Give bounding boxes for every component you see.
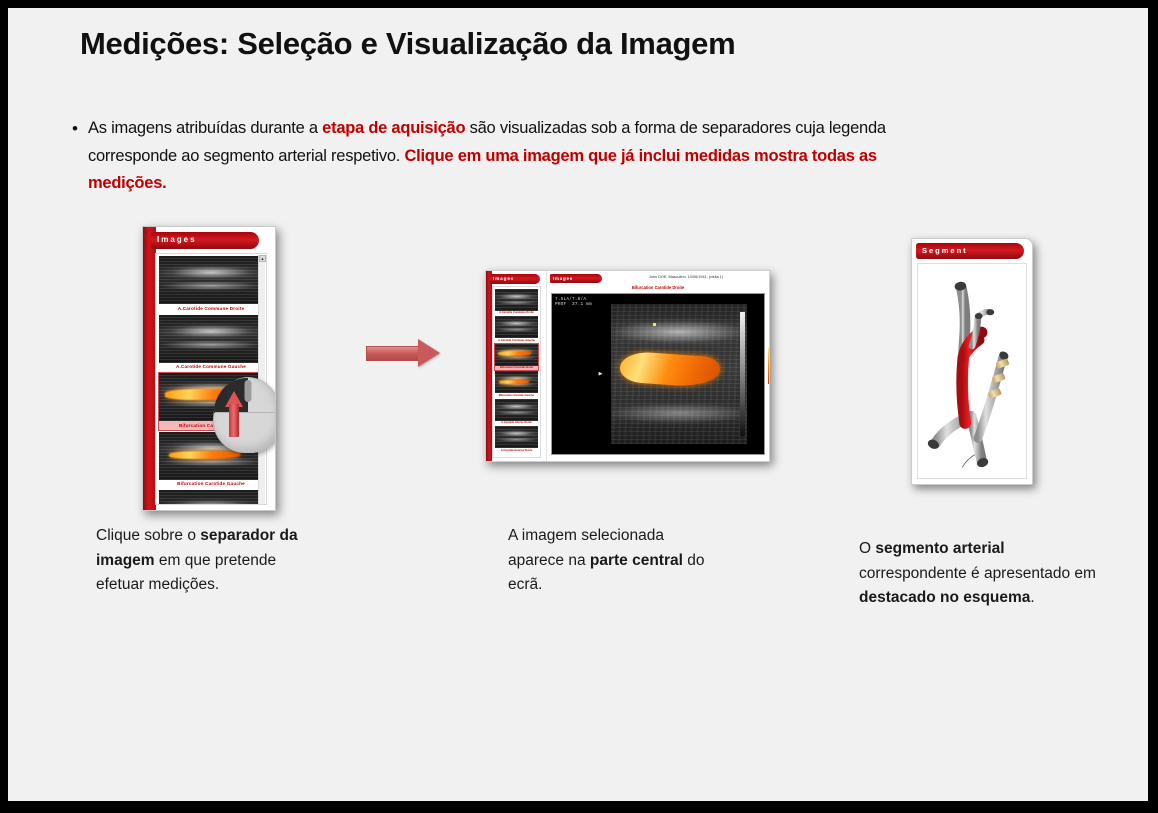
greyscale-bar <box>740 312 745 436</box>
list-item-label: A.Carotide Commune Droite <box>495 311 538 315</box>
caption-3-bold1: segmento arterial <box>875 540 1004 557</box>
mouse-click-icon <box>213 377 276 453</box>
list-item-label: A.Carotide Commune Droite <box>159 304 263 313</box>
caption-1-part1: Clique sobre o <box>96 527 200 544</box>
ultrasound-thumbnail <box>495 289 538 311</box>
caption-step-3: O segmento arterial correspondente é apr… <box>859 537 1104 611</box>
ultrasound-image <box>611 304 747 445</box>
caption-step-2: A imagem selecionada aparece na parte ce… <box>508 524 723 598</box>
bullet-text-part1: As imagens atribuídas durante a <box>88 119 322 137</box>
ultrasound-thumbnail <box>495 316 538 338</box>
mouse-wheel <box>245 380 252 402</box>
bullet-highlight-acquisition: etapa de aquisição <box>322 119 465 137</box>
list-item[interactable]: A.Carotide Commune Gauche <box>495 316 538 342</box>
viewer-main-area: Images John DOE, Masculino, 10/06/1941, … <box>546 271 769 461</box>
viewer-window: Images A.Carotide Commune Droite A.Carot… <box>485 270 770 462</box>
list-item[interactable]: A.Carotide Externe Droite <box>495 426 538 452</box>
ultrasound-osd-line2: PROF 37.1 mm <box>555 302 592 308</box>
segment-panel-header: Segment <box>916 243 1024 259</box>
list-item-label: Bifurcation Carotide Gauche <box>495 393 538 397</box>
list-item-label: A.Carotide Interne Droite <box>495 421 538 425</box>
ultrasound-thumbnail <box>159 256 263 304</box>
screenshot-segment-diagram: Segment <box>911 238 1033 485</box>
images-window: Images A.Carotide Commune Droite A.Carot… <box>142 226 276 511</box>
list-item[interactable]: Bifurcation Carotide Droite <box>495 344 538 370</box>
patient-info: John DOE, Masculino, 10/06/1941, (visita… <box>607 275 765 279</box>
segment-diagram-body <box>917 263 1027 479</box>
bullet-marker: • <box>72 115 88 143</box>
list-item-label: Bifurcation Carotide Droite <box>495 366 538 370</box>
list-item[interactable]: Bifurcation Carotide Gauche <box>495 371 538 397</box>
marker-dot-icon <box>653 323 656 326</box>
viewer-segment-title: Bifurcation Carotide Droite <box>547 285 769 290</box>
list-item[interactable]: A.Carotide Commune Gauche <box>159 315 263 372</box>
caption-3-part3: . <box>1030 589 1034 606</box>
caption-3-bold2: destacado no esquema <box>859 589 1030 606</box>
ultrasound-canvas[interactable]: 7.5LA/7.0/A PROF 37.1 mm ▶ <box>551 293 765 455</box>
list-item[interactable]: A.Carotide Commune Droite <box>159 256 263 313</box>
slide-canvas: Medições: Seleção e Visualização da Imag… <box>8 8 1148 801</box>
page-title: Medições: Seleção e Visualização da Imag… <box>80 26 1060 62</box>
flow-arrow-icon <box>366 338 442 368</box>
caption-3-part2: correspondente é apresentado em <box>859 565 1096 582</box>
slide-frame: Medições: Seleção e Visualização da Imag… <box>0 0 1158 813</box>
ultrasound-thumbnail <box>495 399 538 421</box>
viewer-main-tab[interactable]: Images <box>550 274 602 283</box>
ultrasound-thumbnail <box>159 490 263 505</box>
ultrasound-thumbnail <box>495 371 538 393</box>
click-arrow-icon <box>225 391 243 437</box>
list-item-label: A.Carotide Commune Gauche <box>159 363 263 372</box>
caliper-marker-icon: ▶ <box>599 371 603 377</box>
viewer-sidebar-header: Images <box>490 274 540 284</box>
caption-2-bold1: parte central <box>590 552 683 569</box>
list-item[interactable]: A.Carotide Commune Droite <box>495 289 538 315</box>
caption-step-1: Clique sobre o separador da imagem em qu… <box>96 524 318 598</box>
screenshot-image-viewer: Images A.Carotide Commune Droite A.Carot… <box>485 270 770 462</box>
scroll-up-icon[interactable]: ▲ <box>259 255 266 262</box>
ultrasound-thumbnail <box>495 426 538 448</box>
plaque-rings <box>988 358 1010 399</box>
arrow-shaft <box>366 346 420 361</box>
screenshot-images-list: Images A.Carotide Commune Droite A.Carot… <box>142 226 276 511</box>
color-scale-bar <box>768 348 770 383</box>
images-panel-header: Images <box>151 232 259 249</box>
caption-3-part1: O <box>859 540 875 557</box>
bullet-text: As imagens atribuídas durante a etapa de… <box>88 115 902 198</box>
list-item[interactable]: A.Carotide Interne Droite <box>495 399 538 425</box>
viewer-sidebar: Images A.Carotide Commune Droite A.Carot… <box>486 271 544 461</box>
list-item-label: A.Carotide Commune Gauche <box>495 338 538 342</box>
bullet-paragraph: • As imagens atribuídas durante a etapa … <box>72 115 902 198</box>
list-item[interactable]: A.Carotide Interne Droite <box>159 490 263 505</box>
ultrasound-thumbnail <box>495 344 538 366</box>
list-item-label: A.Carotide Externe Droite <box>495 448 538 452</box>
viewer-thumbnail-list[interactable]: A.Carotide Commune Droite A.Carotide Com… <box>492 286 541 458</box>
list-item-label: Bifurcation Carotide Gauche <box>159 480 263 489</box>
segment-window: Segment <box>911 238 1033 485</box>
arrow-head <box>418 339 440 367</box>
ultrasound-thumbnail <box>159 315 263 363</box>
carotid-artery-tree-icon <box>918 264 1026 478</box>
